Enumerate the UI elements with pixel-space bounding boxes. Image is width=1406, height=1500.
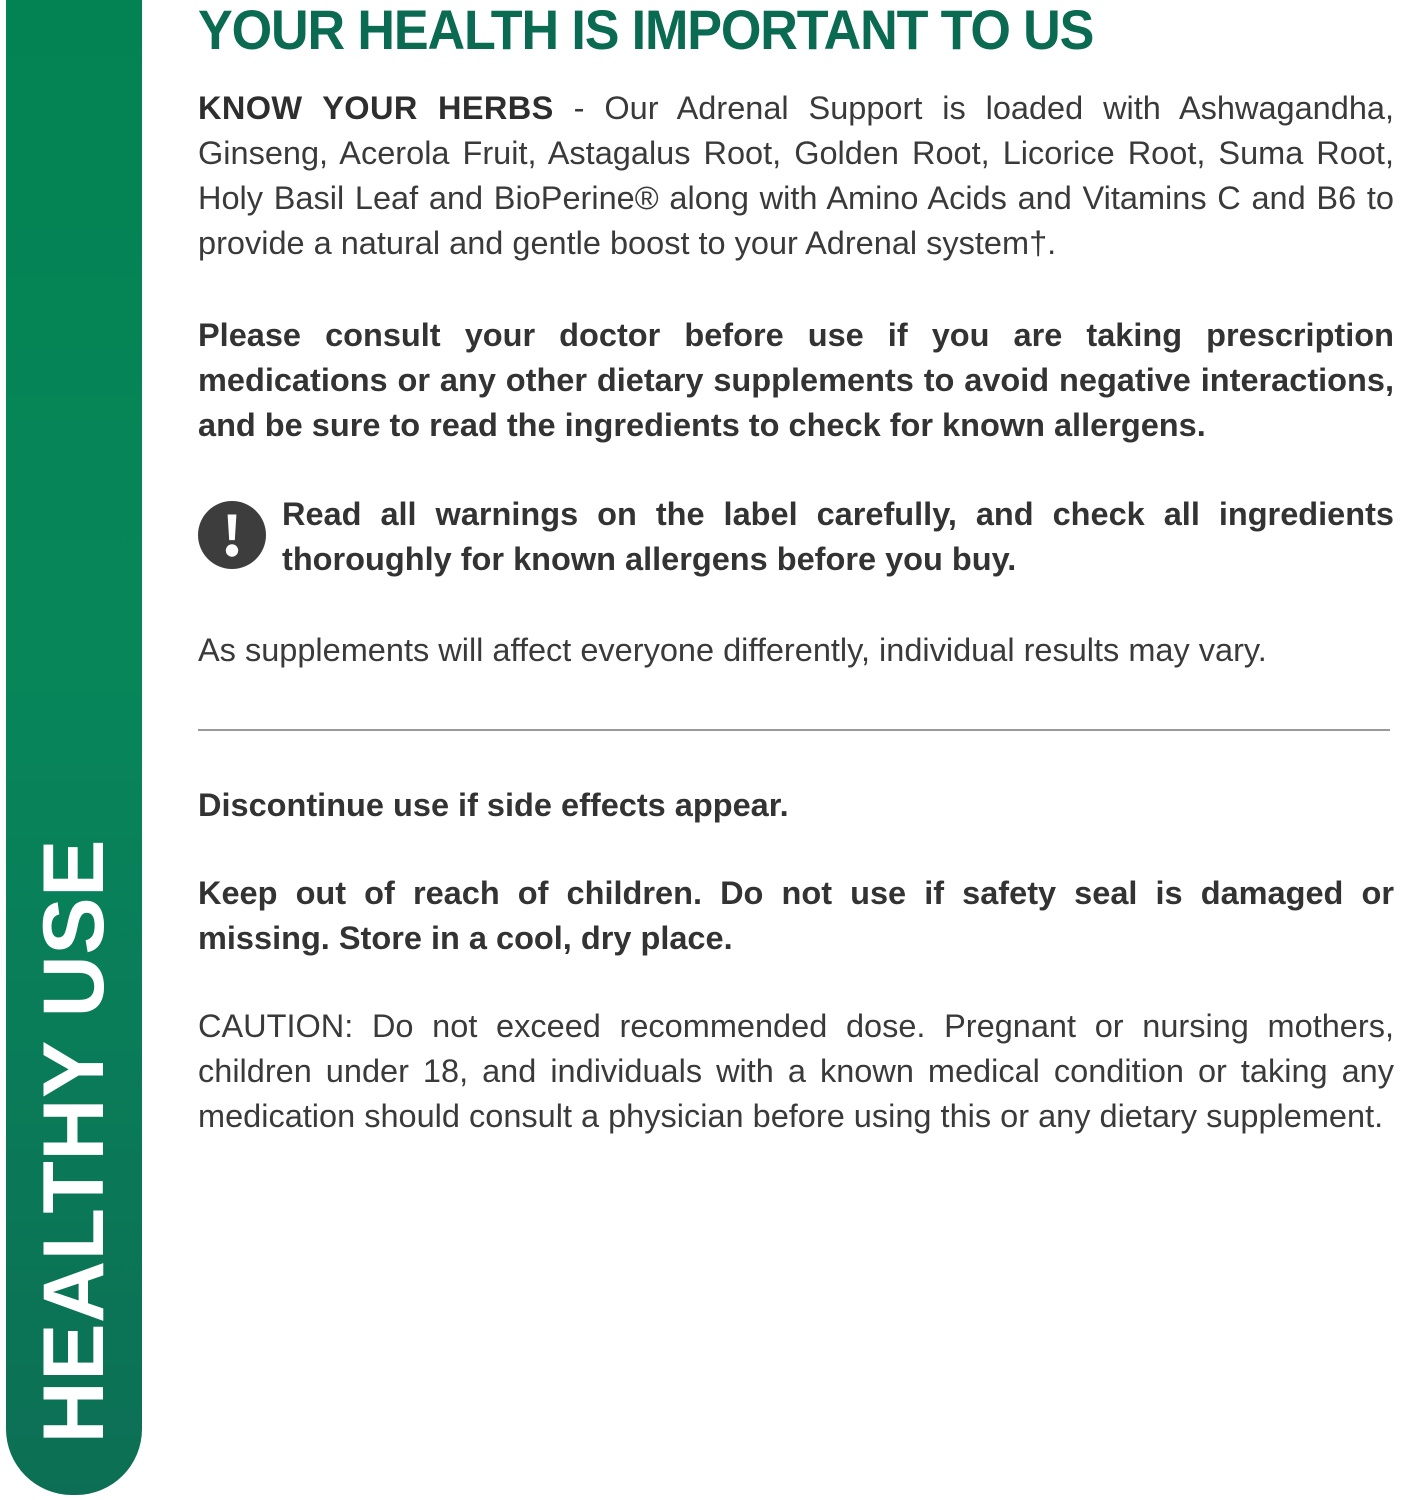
results-vary-paragraph: As supplements will affect everyone diff… xyxy=(198,628,1394,673)
intro-paragraph: KNOW YOUR HERBS - Our Adrenal Support is… xyxy=(198,86,1394,266)
section-divider xyxy=(198,729,1390,731)
page-title: YOUR HEALTH IS IMPORTANT TO US xyxy=(198,0,1310,58)
discontinue-paragraph: Discontinue use if side effects appear. xyxy=(198,783,1394,828)
keep-out-of-reach-paragraph: Keep out of reach of children. Do not us… xyxy=(198,871,1394,961)
sidebar-vertical-label: HEALTHY USE xyxy=(32,839,116,1443)
consult-doctor-paragraph: Please consult your doctor before use if… xyxy=(198,313,1394,448)
intro-lead-label: KNOW YOUR HERBS xyxy=(198,90,554,126)
exclamation-circle-icon xyxy=(198,501,266,569)
warning-callout: Read all warnings on the label carefully… xyxy=(198,492,1394,582)
healthy-use-sidebar: HEALTHY USE xyxy=(6,0,142,1495)
warning-text: Read all warnings on the label carefully… xyxy=(282,492,1394,582)
content-column: YOUR HEALTH IS IMPORTANT TO US KNOW YOUR… xyxy=(198,0,1394,1500)
caution-paragraph: CAUTION: Do not exceed recommended dose.… xyxy=(198,1004,1394,1139)
